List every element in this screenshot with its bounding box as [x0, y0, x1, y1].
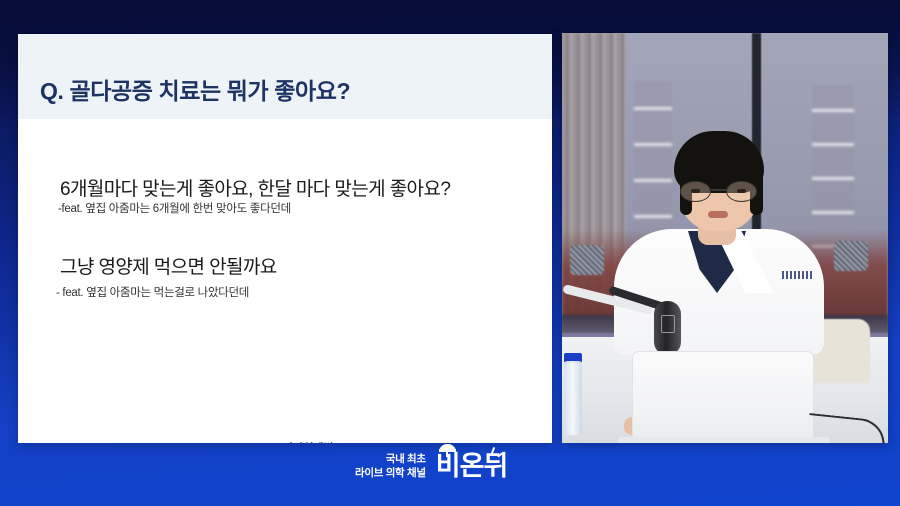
question-caption-2: - feat. 옆집 아줌마는 먹는걸로 나았다던데 [56, 284, 249, 300]
presentation-slide: Q. 골다공증 치료는 뭐가 좋아요? 6개월마다 맞는게 좋아요, 한달 마다… [18, 34, 552, 443]
question-caption-1: -feat. 옆집 아줌마는 6개월에 한번 맞아도 좋다던데 [58, 200, 291, 216]
laptop-base [618, 437, 830, 443]
broadcast-screen: Q. 골다공증 치료는 뭐가 좋아요? 6개월마다 맞는게 좋아요, 한달 마다… [0, 0, 900, 506]
channel-branding: 국내 최초 라이브 의학 채널 비온뒤 [355, 452, 507, 480]
coat-name-badge [782, 271, 812, 279]
brand-tagline: 국내 최초 라이브 의학 채널 [355, 452, 426, 480]
umbrella-icon [439, 444, 456, 453]
glasses-icon [674, 181, 766, 203]
slide-body: 6개월마다 맞는게 좋아요, 한달 마다 맞는게 좋아요? -feat. 옆집 … [18, 34, 552, 443]
cushion-right [834, 241, 868, 271]
brand-tagline-line1: 국내 최초 [355, 452, 426, 466]
brand-logo: 비온뒤 [436, 453, 508, 480]
cushion-left [570, 245, 604, 275]
doctor-mouth [708, 211, 728, 218]
laptop [632, 351, 814, 439]
question-line-1: 6개월마다 맞는게 좋아요, 한달 마다 맞는게 좋아요? [60, 174, 450, 201]
brand-tagline-line2: 라이브 의학 채널 [355, 466, 426, 480]
question-line-2: 그냥 영양제 먹으면 안될까요 [60, 252, 277, 279]
microphone [654, 301, 681, 355]
video-feed [562, 33, 888, 443]
water-bottle [564, 361, 582, 435]
